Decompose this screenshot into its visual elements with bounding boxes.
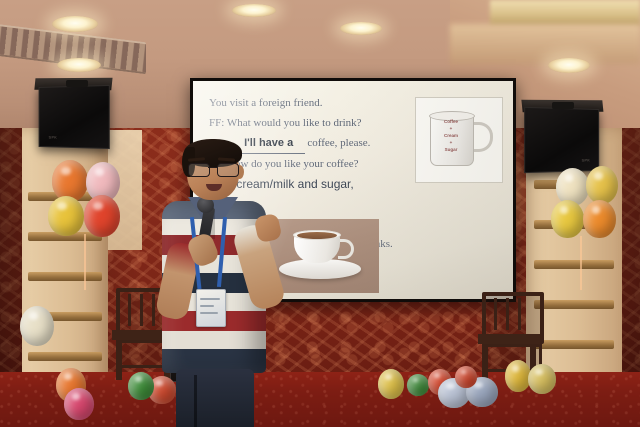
balloon-right-yellow	[551, 200, 584, 238]
eyeglasses-icon	[186, 163, 242, 175]
balloon-right-string	[580, 236, 582, 290]
balloon-foreground-pink	[64, 388, 94, 420]
balloon-right-orange	[583, 200, 616, 238]
right-speaker-mount	[552, 102, 574, 109]
slide-line-3-suffix: coffee, please.	[307, 137, 370, 149]
balloon-left-yellow	[48, 196, 84, 236]
balloon-left-red	[84, 195, 120, 237]
balloon-floor-yellow	[378, 369, 404, 399]
left-speaker-mount	[66, 80, 88, 87]
mug-label-text: Coffee + Cream + Sugar	[432, 118, 470, 153]
id-badge	[196, 289, 226, 327]
balloon-floor-green	[407, 374, 429, 396]
trouser-seam	[194, 375, 197, 427]
balloon-floor-gold-2	[528, 364, 556, 394]
balloon-floor-gold-1	[505, 360, 531, 392]
balloon-floor-red-2	[455, 366, 477, 388]
balloon-foreground-green	[128, 372, 154, 400]
coffee-liquid-shape	[297, 232, 337, 239]
photo-scene: SPK SPK You visit a foreign friend. FF: …	[0, 0, 640, 427]
presenter-figure	[156, 139, 284, 427]
ceiling-downlight-4	[340, 22, 382, 35]
ceiling-downlight-5	[548, 58, 590, 73]
mug-graphic-box: Coffee + Cream + Sugar	[415, 97, 503, 183]
balloon-right-gold	[586, 166, 618, 204]
left-wall-speaker: SPK	[39, 85, 110, 149]
ceiling-downlight-3	[232, 4, 276, 17]
ceiling-downlight-2	[57, 58, 101, 72]
cove-light-strip	[490, 0, 640, 26]
balloon-left-string	[84, 234, 86, 290]
balloon-foreground-cream	[20, 306, 54, 346]
cup-handle-shape	[338, 239, 354, 259]
right-wall-speaker: SPK	[524, 107, 599, 173]
cove-light-glow	[450, 24, 640, 64]
trousers	[176, 369, 254, 427]
ceiling-downlight-1	[52, 16, 98, 32]
